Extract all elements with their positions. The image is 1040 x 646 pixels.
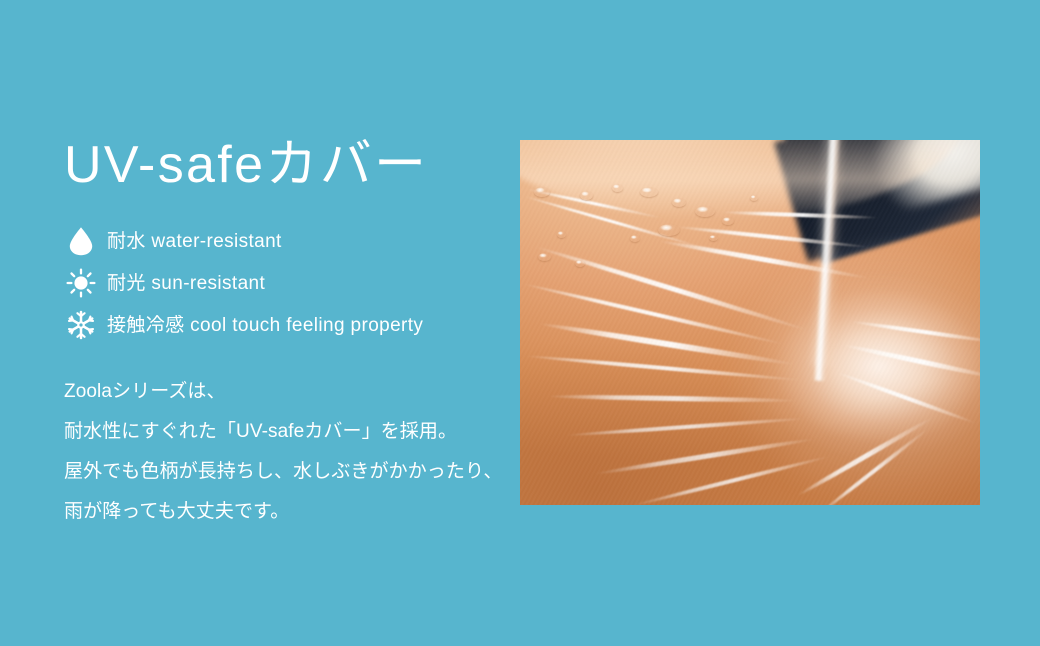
feature-item-water-resistant: 耐水 water-resistant (64, 220, 516, 262)
copy-column: UV-safeカバー 耐水 water-resistant (64, 136, 516, 532)
water-drop-icon (64, 224, 98, 258)
feature-list: 耐水 water-resistant (64, 220, 516, 346)
photo-texture (520, 140, 980, 505)
feature-label: 耐光 sun-resistant (107, 274, 265, 293)
promo-banner: UV-safeカバー 耐水 water-resistant (0, 0, 1040, 646)
description-line: 雨が降っても大丈夫です。 (64, 492, 516, 532)
description-line: 屋外でも色柄が長持ちし、水しぶきがかかったり、 (64, 452, 516, 492)
sun-icon (64, 266, 98, 300)
feature-item-sun-resistant: 耐光 sun-resistant (64, 262, 516, 304)
feature-item-cool-touch: 接触冷感 cool touch feeling property (64, 304, 516, 346)
product-photo (520, 140, 980, 505)
description-line: 耐水性にすぐれた「UV-safeカバー」を採用。 (64, 412, 516, 452)
description-paragraph: Zoolaシリーズは、 耐水性にすぐれた「UV-safeカバー」を採用。 屋外で… (64, 372, 516, 532)
feature-label: 耐水 water-resistant (107, 232, 282, 251)
snowflake-icon (64, 308, 98, 342)
page-title: UV-safeカバー (64, 136, 516, 194)
feature-label: 接触冷感 cool touch feeling property (107, 316, 423, 335)
description-line: Zoolaシリーズは、 (64, 372, 516, 412)
